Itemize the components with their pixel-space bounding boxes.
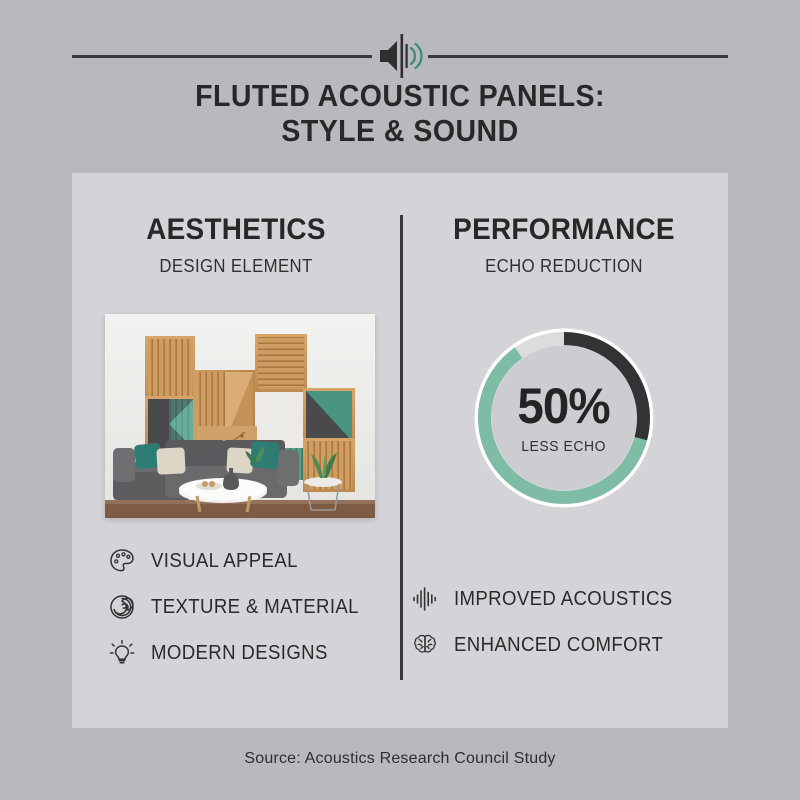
performance-feature-list: IMPROVED ACOUSTICS [410, 584, 689, 660]
palette-icon [107, 546, 137, 576]
performance-header: PERFORMANCE ECHO REDUCTION [400, 173, 728, 277]
aesthetics-header: AESTHETICS DESIGN ELEMENT [72, 173, 400, 277]
header-rule-left [72, 55, 372, 58]
header-divider-row [0, 28, 800, 84]
header: FLUTED ACOUSTIC PANELS: STYLE & SOUND [0, 0, 800, 173]
spiral-texture-icon [107, 592, 137, 622]
list-item: VISUAL APPEAL [107, 546, 375, 576]
performance-subtitle: ECHO REDUCTION [411, 255, 716, 277]
lightbulb-icon [107, 638, 137, 668]
aesthetics-column: AESTHETICS DESIGN ELEMENT [72, 173, 400, 728]
list-item-label: IMPROVED ACOUSTICS [454, 588, 673, 611]
list-item: TEXTURE & MATERIAL [107, 592, 375, 622]
aesthetics-subtitle: DESIGN ELEMENT [83, 255, 388, 277]
aesthetics-title: AESTHETICS [83, 213, 388, 247]
source-attribution: Source: Acoustics Research Council Study [244, 750, 555, 767]
list-item-label: TEXTURE & MATERIAL [151, 596, 359, 619]
list-item-label: MODERN DESIGNS [151, 642, 328, 665]
list-item-label: ENHANCED COMFORT [454, 634, 663, 657]
columns-container: AESTHETICS DESIGN ELEMENT [72, 173, 728, 728]
brain-icon [410, 630, 440, 660]
speaker-sound-icon [372, 28, 428, 84]
title-line-1: FLUTED ACOUSTIC PANELS: [32, 78, 768, 113]
content-card: AESTHETICS DESIGN ELEMENT [72, 173, 728, 728]
list-item-label: VISUAL APPEAL [151, 550, 298, 573]
interior-photo [105, 314, 375, 518]
list-item: IMPROVED ACOUSTICS [410, 584, 689, 614]
echo-reduction-chart: 50% LESS ECHO [400, 323, 728, 513]
aesthetics-feature-list: VISUAL APPEAL TEXTURE & MATERIAL [107, 546, 375, 668]
list-item: ENHANCED COMFORT [410, 630, 689, 660]
performance-title: PERFORMANCE [411, 213, 716, 247]
list-item: MODERN DESIGNS [107, 638, 375, 668]
page-title: FLUTED ACOUSTIC PANELS: STYLE & SOUND [0, 78, 800, 148]
header-rule-right [428, 55, 728, 58]
performance-column: PERFORMANCE ECHO REDUCTION [400, 173, 728, 728]
footer: Source: Acoustics Research Council Study [0, 750, 800, 768]
soundwave-icon [410, 584, 440, 614]
title-line-2: STYLE & SOUND [32, 113, 768, 148]
